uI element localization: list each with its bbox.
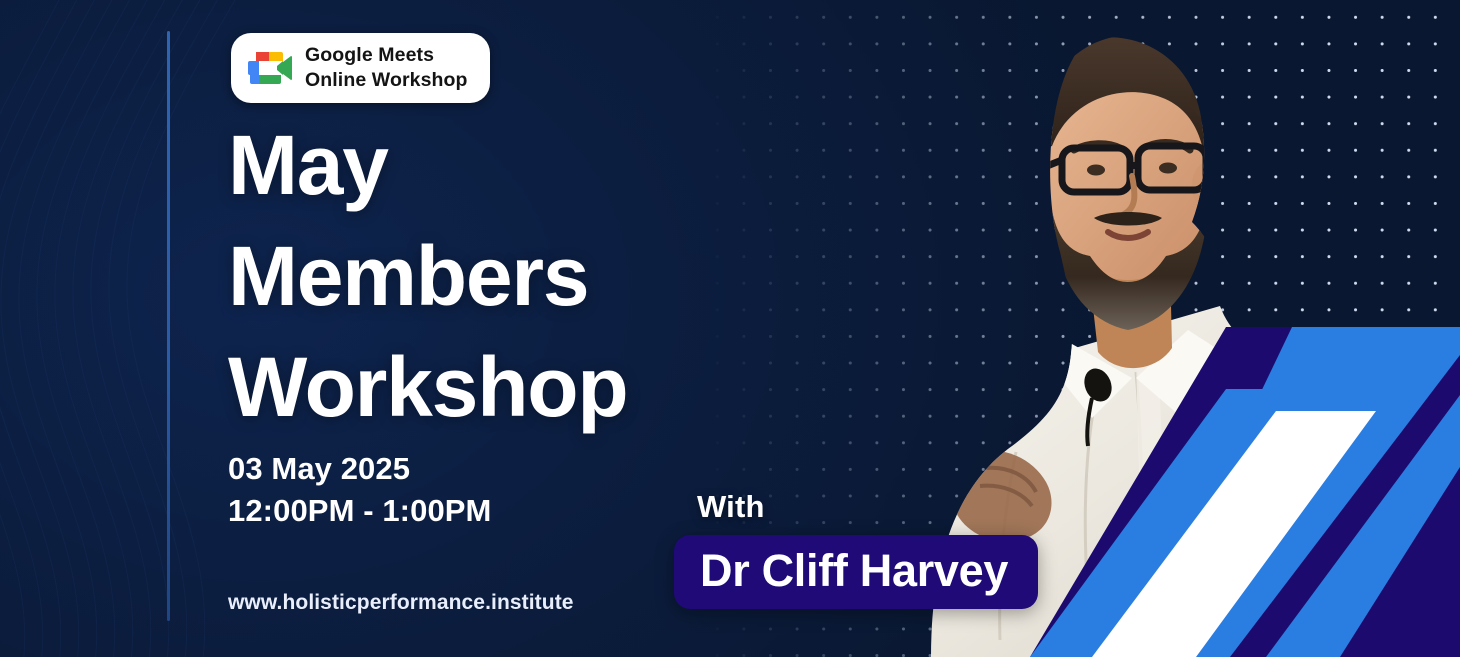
page-title: May Members Workshop [228, 110, 848, 443]
google-meet-badge-text: Google Meets Online Workshop [305, 43, 468, 93]
title-line-1: May [228, 110, 848, 221]
badge-line-1: Google Meets [305, 44, 434, 66]
title-line-3: Workshop [228, 332, 848, 443]
with-label: With [697, 489, 765, 525]
badge-line-2: Online Workshop [305, 69, 468, 91]
vertical-accent-rule [167, 31, 170, 621]
speaker-name-badge: Dr Cliff Harvey [674, 535, 1038, 609]
event-date: 03 May 2025 [228, 448, 491, 490]
event-time: 12:00PM - 1:00PM [228, 490, 491, 532]
google-meet-icon [246, 48, 292, 88]
website-url[interactable]: www.holisticperformance.institute [228, 591, 574, 615]
title-line-2: Members [228, 221, 848, 332]
event-schedule: 03 May 2025 12:00PM - 1:00PM [228, 448, 491, 533]
event-banner: Google Meets Online Workshop May Members… [0, 0, 1460, 657]
google-meet-badge: Google Meets Online Workshop [231, 33, 490, 103]
